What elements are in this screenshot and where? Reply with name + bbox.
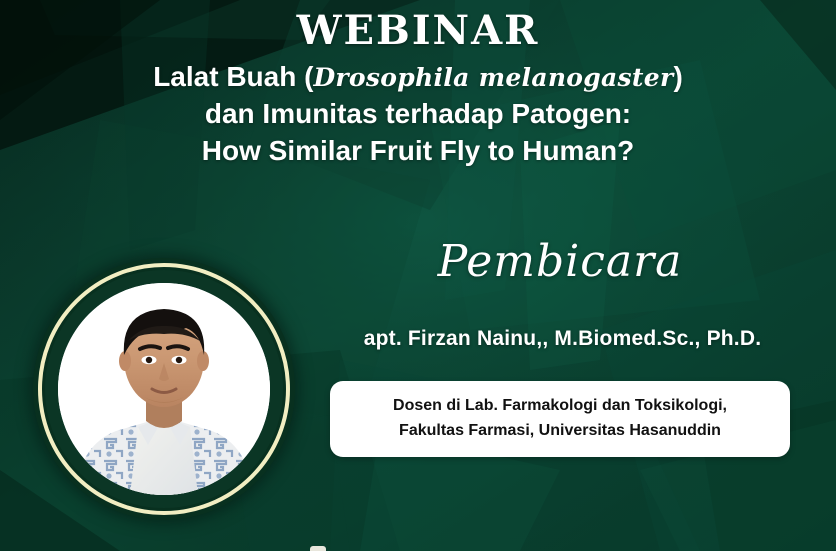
affiliation-box: Dosen di Lab. Farmakologi dan Toksikolog… [330,381,790,457]
title-line-3: How Similar Fruit Fly to Human? [20,132,816,169]
affiliation-line-2: Fakultas Farmasi, Universitas Hasanuddin [399,419,721,444]
webinar-eyebrow: WEBINAR [20,10,816,52]
title-line-1-suffix: ) [673,61,682,92]
bottom-edge-chip [310,546,326,551]
speaker-portrait-photo [58,283,270,495]
speaker-section-label: Pembicara [330,236,790,287]
title-line-1-prefix: Lalat Buah ( [153,61,313,92]
affiliation-line-1: Dosen di Lab. Farmakologi dan Toksikolog… [393,394,727,419]
title-line-1: Lalat Buah (Drosophila melanogaster) [20,58,816,95]
portrait-illustration [58,283,270,495]
webinar-poster: WEBINAR Lalat Buah (Drosophila melanogas… [0,0,836,551]
scientific-name: Drosophila melanogaster [313,63,673,92]
speaker-name: apt. Firzan Nainu,, M.Biomed.Sc., Ph.D. [325,327,800,351]
speaker-portrait-frame [33,258,295,520]
title-block: WEBINAR Lalat Buah (Drosophila melanogas… [0,10,836,170]
title-line-2: dan Imunitas terhadap Patogen: [20,95,816,132]
